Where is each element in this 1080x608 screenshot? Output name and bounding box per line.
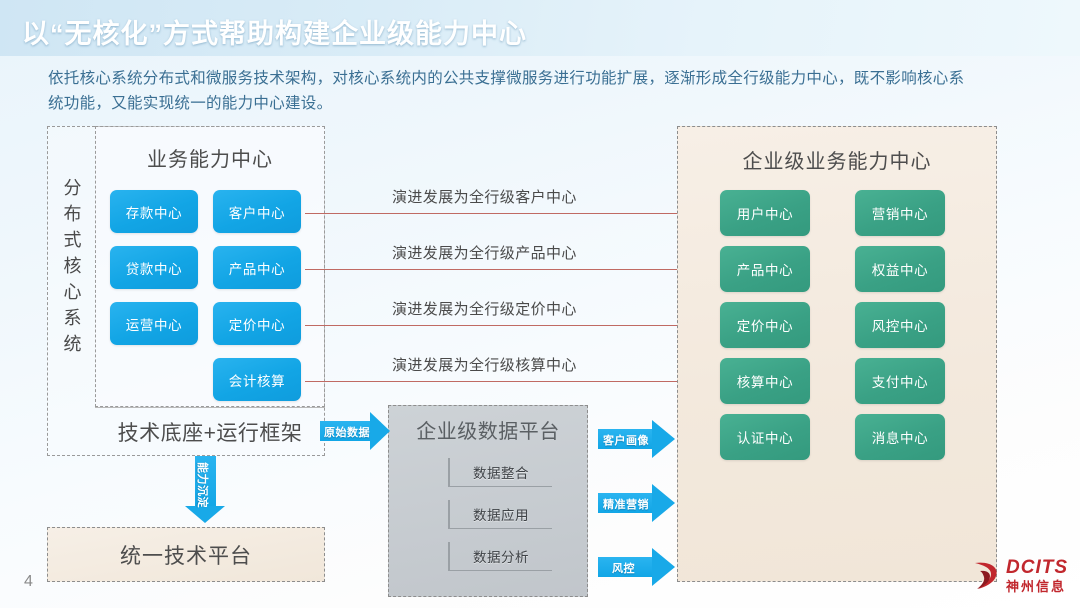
unified-technology-platform-box: 统一技术平台 (47, 527, 325, 582)
capability-box-product[interactable]: 产品中心 (213, 246, 301, 289)
enterprise-box-pricing[interactable]: 定价中心 (720, 302, 810, 348)
connector-line-pricing (305, 325, 712, 326)
data-platform-item-integration[interactable]: 数据整合 (448, 458, 552, 487)
page-title: 以“无核化”方式帮助构建企业级能力中心 (22, 12, 527, 51)
distributed-core-label: 分布式核心系统 (56, 175, 90, 357)
dcits-logo-text: DCITS 神州信息 (1006, 558, 1068, 594)
enterprise-box-message[interactable]: 消息中心 (855, 414, 945, 460)
connector-label-accounting: 演进发展为全行级核算中心 (392, 354, 577, 375)
enterprise-box-payment[interactable]: 支付中心 (855, 358, 945, 404)
enterprise-box-user[interactable]: 用户中心 (720, 190, 810, 236)
data-platform-item-analysis[interactable]: 数据分析 (448, 542, 552, 571)
capability-box-customer[interactable]: 客户中心 (213, 190, 301, 233)
connector-label-customer: 演进发展为全行级客户中心 (392, 186, 577, 207)
connector-label-pricing: 演进发展为全行级定价中心 (392, 298, 577, 319)
capability-box-deposit[interactable]: 存款中心 (110, 190, 198, 233)
arrow-label-customer-profile: 客户画像 (603, 432, 649, 448)
arrow-label-capability-deposit: 能力沉淀 (195, 462, 211, 508)
arrow-label-precision-marketing: 精准营销 (603, 496, 649, 512)
capability-box-accounting[interactable]: 会计核算 (213, 358, 301, 401)
capability-box-loan[interactable]: 贷款中心 (110, 246, 198, 289)
tech-base-box: 技术底座+运行框架 (95, 407, 325, 456)
dcits-logo: DCITS 神州信息 (971, 555, 1068, 597)
arrow-risk-control: 风控 (598, 548, 676, 586)
connector-label-product: 演进发展为全行级产品中心 (392, 242, 577, 263)
connector-line-product (305, 269, 712, 270)
arrow-head (652, 484, 675, 522)
arrow-head (652, 420, 675, 458)
arrow-precision-marketing: 精准营销 (598, 484, 676, 522)
enterprise-box-rights[interactable]: 权益中心 (855, 246, 945, 292)
business-capability-center-title: 业务能力中心 (95, 143, 325, 172)
arrow-label-raw-data: 原始数据 (324, 424, 370, 440)
arrow-head (652, 548, 675, 586)
enterprise-data-platform-title: 企业级数据平台 (388, 415, 588, 444)
arrow-head (370, 412, 390, 450)
dcits-logo-cn: 神州信息 (1006, 579, 1068, 594)
capability-box-operation[interactable]: 运营中心 (110, 302, 198, 345)
data-platform-item-application[interactable]: 数据应用 (448, 500, 552, 529)
arrow-head (185, 506, 225, 523)
page-subtitle: 依托核心系统分布式和微服务技术架构，对核心系统内的公共支撑微服务进行功能扩展，逐… (48, 66, 978, 116)
enterprise-box-product[interactable]: 产品中心 (720, 246, 810, 292)
arrow-raw-data: 原始数据 (320, 412, 390, 450)
dcits-logo-en: DCITS (1006, 558, 1068, 577)
enterprise-box-riskcontrol[interactable]: 风控中心 (855, 302, 945, 348)
connector-line-accounting (305, 381, 712, 382)
connector-line-customer (305, 213, 712, 214)
enterprise-capability-center-title: 企业级业务能力中心 (677, 145, 997, 174)
dcits-logo-mark (971, 559, 1001, 593)
arrow-capability-deposit: 能力沉淀 (185, 456, 226, 524)
arrow-customer-profile: 客户画像 (598, 420, 676, 458)
page-number: 4 (24, 573, 33, 591)
arrow-label-risk-control: 风控 (612, 560, 635, 576)
capability-box-pricing[interactable]: 定价中心 (213, 302, 301, 345)
enterprise-box-auth[interactable]: 认证中心 (720, 414, 810, 460)
enterprise-box-accounting[interactable]: 核算中心 (720, 358, 810, 404)
enterprise-box-marketing[interactable]: 营销中心 (855, 190, 945, 236)
